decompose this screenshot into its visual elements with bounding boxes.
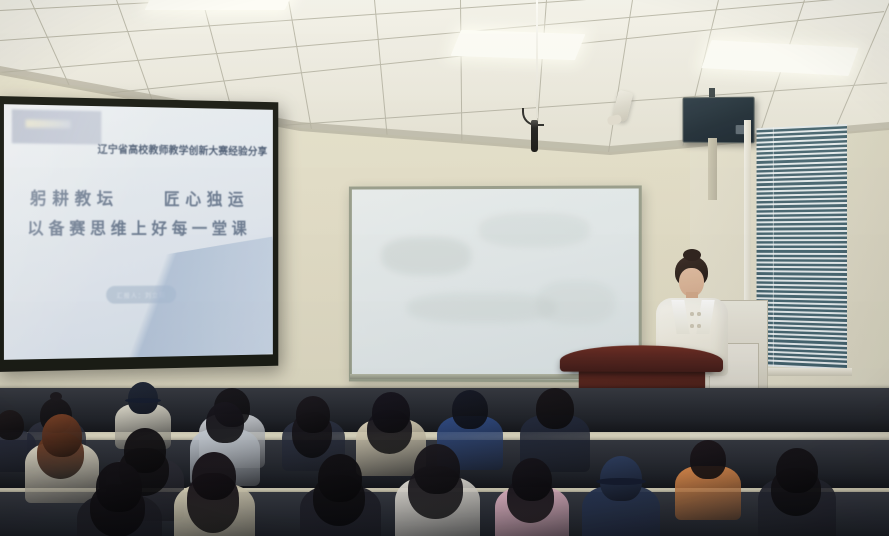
slide-surface: 辽宁省高校教师教学创新大赛经验分享 躬耕教坛 匠心独运 以备赛思维上好每一堂课 … <box>4 104 273 360</box>
attendee-head <box>318 454 362 502</box>
wall-column <box>708 138 717 200</box>
attendee-head <box>96 462 142 512</box>
window <box>757 124 847 370</box>
venetian-blinds[interactable] <box>757 124 847 370</box>
attendee-head <box>0 410 24 440</box>
lecture-hall-photo: 辽宁省高校教师教学创新大赛经验分享 躬耕教坛 匠心独运 以备赛思维上好每一堂课 … <box>0 0 889 536</box>
attendee-head <box>206 402 244 443</box>
audience-area <box>0 336 889 536</box>
attendee-head <box>414 444 460 494</box>
attendee-head <box>536 388 574 429</box>
microphone-cable <box>536 0 538 118</box>
projection-screen: 辽宁省高校教师教学创新大赛经验分享 躬耕教坛 匠心独运 以备赛思维上好每一堂课 … <box>0 96 278 372</box>
light-panel-center <box>451 30 586 60</box>
ceiling-grid-line <box>606 0 634 168</box>
slide-headline-block: 躬耕教坛 匠心独运 以备赛思维上好每一堂课 <box>4 186 273 242</box>
attendee-head <box>296 396 330 433</box>
institution-logo <box>12 109 102 144</box>
attendee-head <box>776 448 818 493</box>
attendee-head <box>42 414 82 457</box>
attendee-head <box>690 440 726 479</box>
slide-headline-right: 匠心独运 <box>164 190 249 209</box>
attendee-head <box>372 392 410 433</box>
attendee-head <box>192 452 236 500</box>
hanging-microphone-icon <box>531 120 538 152</box>
light-panel-left <box>145 0 296 10</box>
attendee-head <box>452 390 488 429</box>
blind-cord[interactable] <box>773 127 774 366</box>
slide-header-title: 辽宁省高校教师教学创新大赛经验分享 <box>98 142 268 159</box>
attendee-cap-brim <box>125 398 161 403</box>
attendee-head <box>512 458 552 501</box>
slide-headline-left: 躬耕教坛 <box>30 189 119 208</box>
slide-subline: 以备赛思维上好每一堂课 <box>4 216 273 242</box>
